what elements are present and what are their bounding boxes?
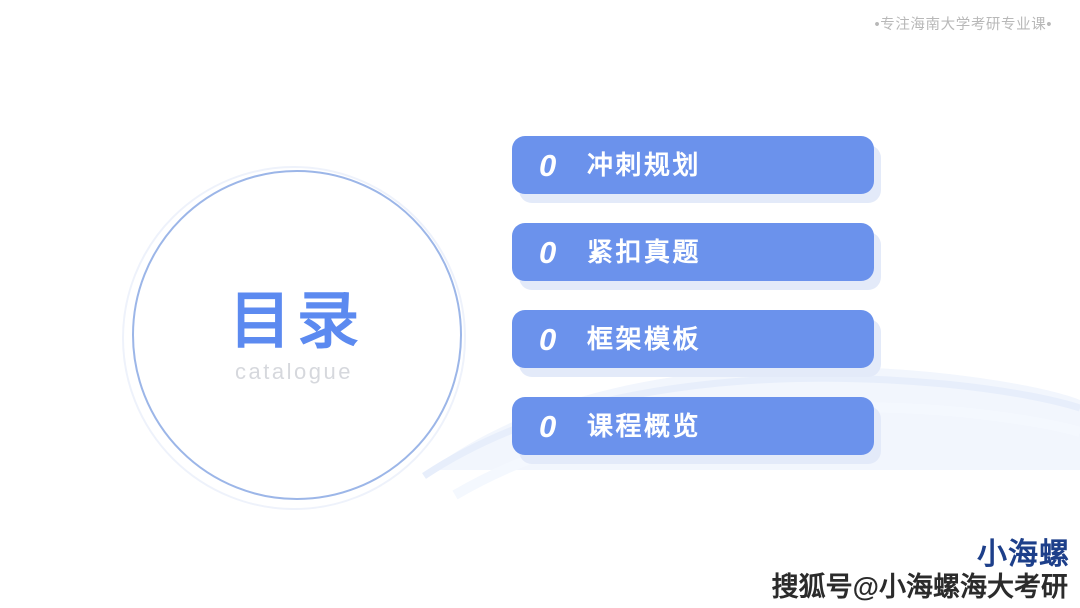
menu-list: 0 冲刺规划 0 紧扣真题 0 框架模板 0 课程概览	[512, 136, 874, 455]
pill-background[interactable]: 0 框架模板	[512, 310, 874, 368]
menu-item-label: 冲刺规划	[587, 152, 701, 178]
menu-item-number: 0	[539, 324, 573, 355]
pill-background[interactable]: 0 课程概览	[512, 397, 874, 455]
menu-item-2[interactable]: 0 紧扣真题	[512, 223, 874, 281]
slide-root: •专注海南大学考研专业课• 目录 catalogue 0 冲刺规划 0 紧扣真题	[0, 0, 1080, 608]
menu-item-label: 紧扣真题	[587, 239, 701, 265]
menu-item-number: 0	[539, 237, 573, 268]
pill-background[interactable]: 0 冲刺规划	[512, 136, 874, 194]
watermark: 搜狐号@小海螺海大考研	[772, 574, 1068, 601]
menu-item-number: 0	[539, 150, 573, 181]
pill-background[interactable]: 0 紧扣真题	[512, 223, 874, 281]
menu-item-label: 课程概览	[587, 413, 701, 439]
brand-logo: 小海螺	[977, 540, 1070, 570]
header-tagline: •专注海南大学考研专业课•	[875, 13, 1052, 34]
circle-text-group: 目录 catalogue	[122, 166, 466, 510]
menu-item-number: 0	[539, 411, 573, 442]
menu-item-4[interactable]: 0 课程概览	[512, 397, 874, 455]
menu-item-1[interactable]: 0 冲刺规划	[512, 136, 874, 194]
catalogue-circle: 目录 catalogue	[122, 166, 470, 514]
catalogue-title: 目录	[223, 291, 365, 353]
menu-item-3[interactable]: 0 框架模板	[512, 310, 874, 368]
catalogue-subtitle: catalogue	[235, 359, 353, 385]
menu-item-label: 框架模板	[587, 326, 701, 352]
